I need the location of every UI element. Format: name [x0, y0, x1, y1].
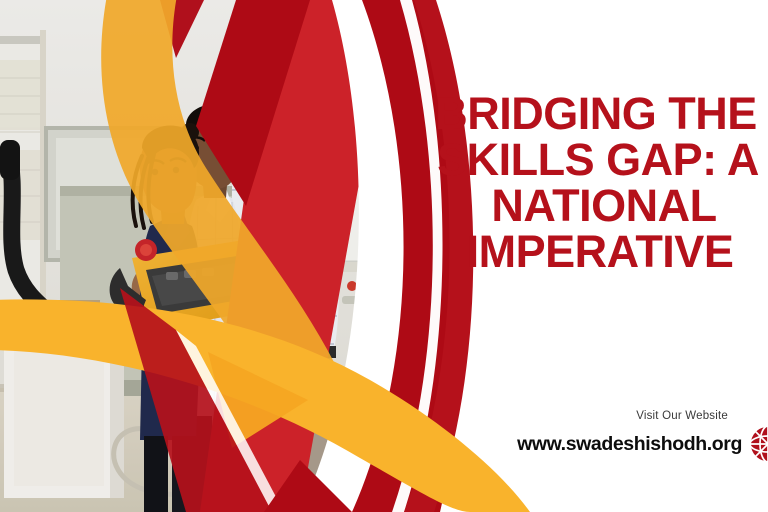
- photo-illustration: [0, 0, 420, 512]
- text-panel: BRIDGING THE SKILLS GAP: A NATIONAL IMPE…: [418, 0, 768, 512]
- headline-line-2: SKILLS GAP: A: [422, 138, 768, 182]
- headline: BRIDGING THE SKILLS GAP: A NATIONAL IMPE…: [412, 92, 768, 276]
- website-block: Visit Our Website www.swadeshishodh.org: [444, 410, 768, 464]
- headline-line-4: IMPERATIVE: [426, 230, 768, 274]
- website-row[interactable]: www.swadeshishodh.org: [444, 424, 768, 464]
- website-url[interactable]: www.swadeshishodh.org: [517, 433, 742, 456]
- globe-icon: [748, 424, 768, 464]
- headline-line-1: BRIDGING THE: [418, 92, 768, 136]
- promo-banner: BRIDGING THE SKILLS GAP: A NATIONAL IMPE…: [0, 0, 768, 512]
- workshop-photo: [0, 0, 420, 512]
- visit-our-website-label: Visit Our Website: [444, 410, 728, 422]
- headline-line-3: NATIONAL: [434, 184, 768, 228]
